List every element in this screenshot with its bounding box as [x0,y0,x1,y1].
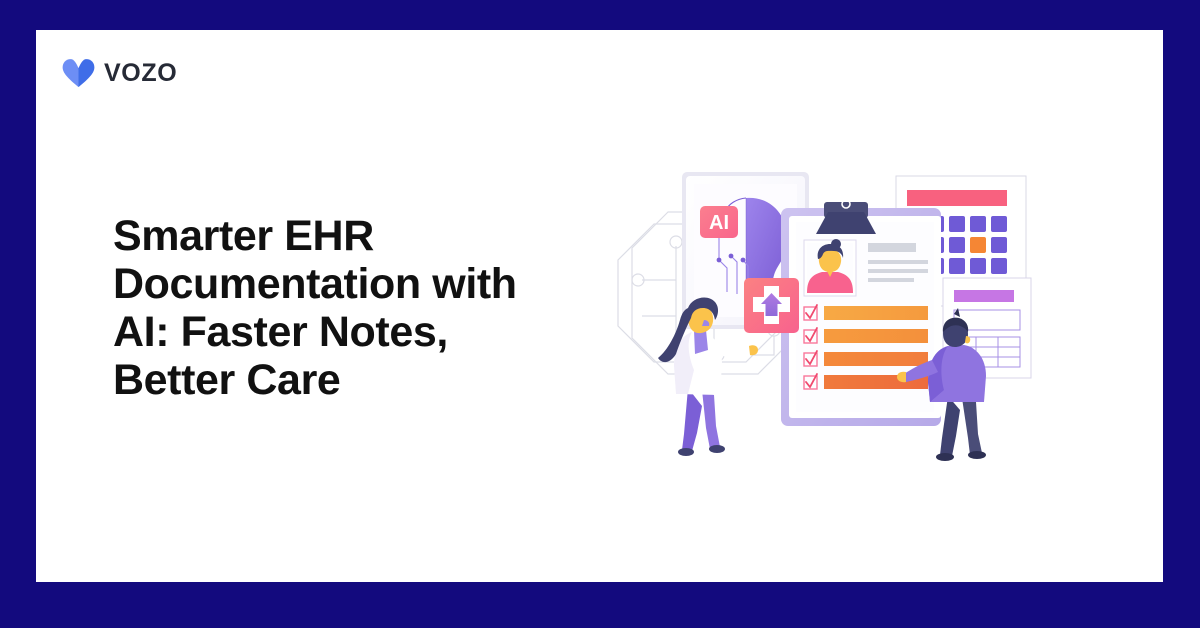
medical-cross-badge [744,278,799,333]
heart-icon [62,58,95,88]
page-title: Smarter EHR Documentation with AI: Faste… [113,212,543,405]
patient-photo [804,239,856,296]
ai-badge: AI [700,206,738,238]
content-card: VOZO Smarter EHR Documentation with AI: … [36,30,1163,582]
ai-badge-label: AI [709,212,729,234]
clipboard-clip [816,200,876,234]
clipboard-patient-chart [781,200,941,426]
brand-logo[interactable]: VOZO [62,58,177,88]
banner-frame: VOZO Smarter EHR Documentation with AI: … [0,0,1200,628]
brand-name: VOZO [104,59,177,88]
ai-ehr-documentation-illustration: AI [596,150,1056,470]
